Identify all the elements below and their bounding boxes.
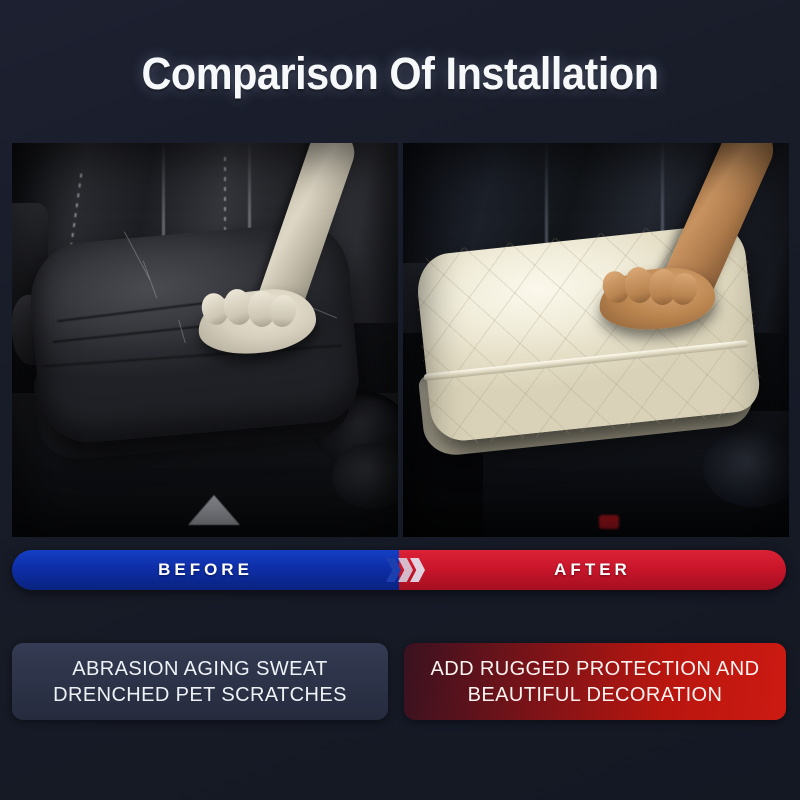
before-caption-line-1: ABRASION AGING SWEAT — [53, 656, 347, 682]
red-accent-light — [599, 515, 619, 529]
product-comparison-page: Comparison Of Installation — [0, 0, 800, 800]
banner-after-label: AFTER — [399, 550, 786, 590]
before-after-banner: BEFORE AFTER — [12, 550, 786, 590]
page-title: Comparison Of Installation — [32, 48, 768, 100]
before-caption-box: ABRASION AGING SWEAT DRENCHED PET SCRATC… — [12, 643, 388, 720]
after-caption-line-2: BEAUTIFUL DECORATION — [431, 682, 760, 708]
before-caption-line-2: DRENCHED PET SCRATCHES — [53, 682, 347, 708]
before-photo — [12, 143, 398, 537]
floor-highlight — [188, 495, 240, 525]
banner-before-label: BEFORE — [12, 550, 399, 590]
after-caption-box: ADD RUGGED PROTECTION AND BEAUTIFUL DECO… — [404, 643, 786, 720]
after-caption-line-1: ADD RUGGED PROTECTION AND — [431, 656, 760, 682]
after-photo — [403, 143, 789, 537]
